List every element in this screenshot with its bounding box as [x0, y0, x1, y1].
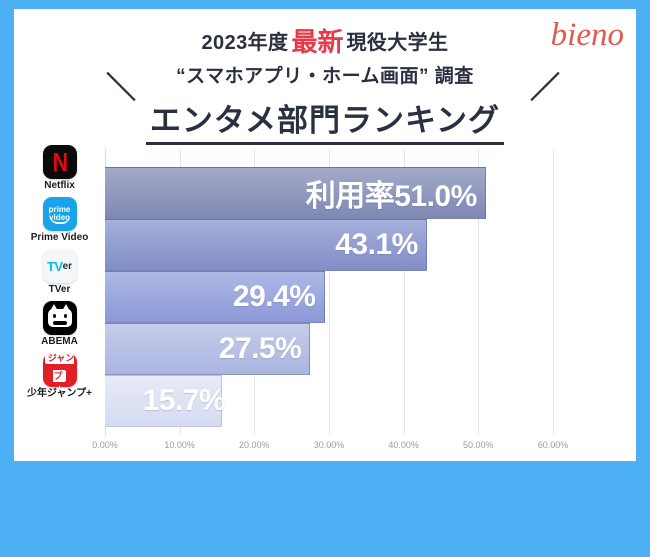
abema-icon [43, 301, 77, 335]
prime-video-icon: primevideo [43, 197, 77, 231]
header-highlight: 最新 [288, 27, 346, 57]
chart-x-axis: 0.00% 10.00% 20.00% 30.00% 40.00% 50.00%… [105, 440, 553, 458]
header-line-1: 2023年度最新現役大学生 [14, 22, 636, 59]
tver-icon: TVer [43, 249, 77, 283]
category-shonen-jump-plus: ジャンプ+ 少年ジャンプ+ [14, 353, 105, 405]
netflix-icon: N [43, 145, 77, 179]
category-label: ABEMA [41, 336, 78, 347]
poster-header: 2023年度最新現役大学生 ／ “スマホアプリ・ホーム画面” 調査 ／ エンタメ… [14, 9, 636, 144]
x-tick-label: 60.00% [538, 440, 569, 450]
category-netflix: N Netflix [14, 145, 105, 197]
x-tick-label: 30.00% [314, 440, 345, 450]
bar-netflix[interactable]: 利用率51.0% [105, 167, 486, 219]
bar-value-label: 43.1% [335, 228, 418, 262]
x-tick-label: 10.00% [164, 440, 195, 450]
header-line-2-wrap: ／ “スマホアプリ・ホーム画面” 調査 ／ [14, 61, 636, 95]
category-tver: TVer TVer [14, 249, 105, 301]
x-tick-label: 50.00% [463, 440, 494, 450]
bar-value-label: 15.7% [143, 384, 226, 418]
header-line-3: エンタメ部門ランキング [14, 95, 636, 145]
category-prime-video: primevideo Prime Video [14, 197, 105, 249]
x-tick-label: 40.00% [388, 440, 419, 450]
bar-row: 利用率51.0% [105, 167, 553, 219]
category-label: Prime Video [31, 232, 89, 243]
gridline [553, 149, 554, 435]
category-abema: ABEMA [14, 301, 105, 353]
category-label: 少年ジャンプ+ [27, 388, 92, 399]
page-title: エンタメ部門ランキング [146, 95, 504, 145]
header-year: 2023年度 [202, 32, 289, 54]
bar-row: 27.5% [105, 323, 553, 375]
ranking-bar-chart: N Netflix primevideo Prime Video TVer TV… [14, 144, 636, 461]
bar-row: 29.4% [105, 271, 553, 323]
bar-value-label: 29.4% [233, 280, 316, 314]
chart-plot-area: 利用率51.0% 43.1% 29.4% [105, 149, 553, 435]
poster-frame: 2023年度最新現役大学生 ／ “スマホアプリ・ホーム画面” 調査 ／ エンタメ… [0, 0, 650, 479]
bar-prime-video[interactable]: 43.1% [105, 219, 427, 271]
bar-value-label: 利用率51.0% [306, 171, 477, 215]
poster-sheet: 2023年度最新現役大学生 ／ “スマホアプリ・ホーム画面” 調査 ／ エンタメ… [14, 9, 636, 461]
bar-row: 43.1% [105, 219, 553, 271]
x-tick-label: 20.00% [239, 440, 270, 450]
chart-categories: N Netflix primevideo Prime Video TVer TV… [14, 297, 105, 557]
chart-bars: 利用率51.0% 43.1% 29.4% [105, 167, 553, 427]
brand-logo: bieno [551, 17, 624, 54]
category-label: Netflix [44, 180, 75, 191]
bar-tver[interactable]: 29.4% [105, 271, 325, 323]
header-subject: 現役大学生 [346, 32, 448, 54]
bar-abema[interactable]: 27.5% [105, 323, 310, 375]
x-tick-label: 0.00% [92, 440, 118, 450]
bar-shonen-jump-plus[interactable]: 15.7% [105, 375, 222, 427]
bar-row: 15.7% [105, 375, 553, 427]
shonen-jump-plus-icon: ジャンプ+ [43, 353, 77, 387]
bar-value-label: 27.5% [219, 332, 302, 366]
category-label: TVer [49, 284, 71, 295]
